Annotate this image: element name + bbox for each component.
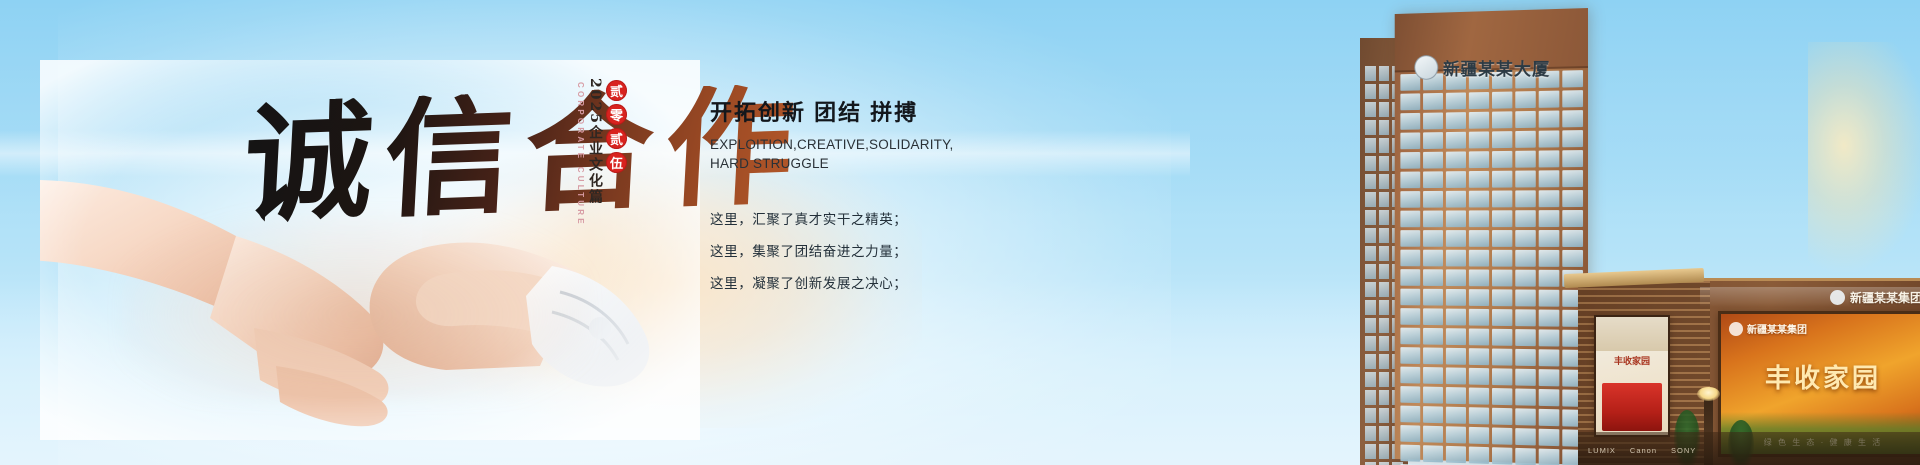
shop-label: Canon — [1630, 446, 1657, 455]
shop-label: SONY — [1671, 446, 1696, 455]
tower-sun-glare — [1808, 42, 1920, 272]
tower-sign: 新疆某某大厦 — [1414, 52, 1560, 83]
seal-column: 贰 零 贰 伍 2025企业文化篇 CORPORATE CULTURE — [576, 78, 627, 263]
shopfront-row: LUMIX Canon SONY — [1578, 432, 1920, 465]
tower-window-grid — [1400, 70, 1583, 465]
body-line: 这里，汇聚了真才实干之精英； — [710, 204, 990, 236]
copy-block: 开拓创新 团结 拼搏 EXPLOITION,CREATIVE,SOLIDARIT… — [710, 100, 990, 300]
vertical-chinese-label: 2025企业文化篇 — [588, 78, 602, 205]
corporate-culture-banner: 诚信合作 贰 零 贰 伍 2025企业文化篇 CORPORATE CULTURE… — [0, 0, 1920, 465]
billboard-logo-icon — [1729, 322, 1743, 336]
podium-crown-sign: 新疆某某集团 — [1700, 287, 1920, 307]
billboard-main-text: 丰收家园 — [1721, 358, 1920, 395]
body-line: 这里，凝聚了创新发展之决心； — [710, 268, 990, 300]
tower-sign-text: 新疆某某大厦 — [1443, 54, 1550, 79]
podium-building: 丰收家园 新疆某某集团 新疆某某集团 丰收家园 绿 色 生 态 · 健 康 生 … — [1578, 278, 1920, 465]
wall-poster: 丰收家园 — [1594, 315, 1670, 437]
english-subhead: EXPLOITION,CREATIVE,SOLIDARITY, HARD STR… — [710, 136, 925, 173]
headline: 开拓创新 团结 拼搏 — [710, 100, 990, 126]
seal-stamp: 贰 — [606, 128, 627, 149]
podium-logo-icon — [1830, 290, 1845, 305]
poster-product-image — [1602, 383, 1662, 431]
seal-stamp-stack: 贰 零 贰 伍 — [606, 80, 627, 173]
body-lines: 这里，汇聚了真才实干之精英； 这里，集聚了团结奋进之力量； 这里，凝聚了创新发展… — [710, 204, 990, 300]
billboard-brand: 新疆某某集团 — [1729, 321, 1807, 336]
seal-stamp: 伍 — [606, 152, 627, 173]
handshake-shadow — [120, 210, 590, 400]
body-line: 这里，集聚了团结奋进之力量； — [710, 236, 990, 268]
company-logo-icon — [1414, 55, 1438, 80]
building-photo: 新疆某某大厦 丰收家园 新疆某某集团 新疆某某集团 丰收家园 — [1360, 0, 1920, 465]
seal-stamp: 贰 — [606, 80, 627, 101]
podium-sign-text: 新疆某某集团 — [1850, 289, 1920, 306]
shop-label: LUMIX — [1588, 446, 1616, 455]
vertical-english-label: CORPORATE CULTURE — [576, 82, 584, 227]
billboard-brand-text: 新疆某某集团 — [1747, 321, 1807, 336]
poster-title: 丰收家园 — [1596, 351, 1668, 367]
poster-header — [1596, 317, 1668, 351]
seal-stamp: 零 — [606, 104, 627, 125]
